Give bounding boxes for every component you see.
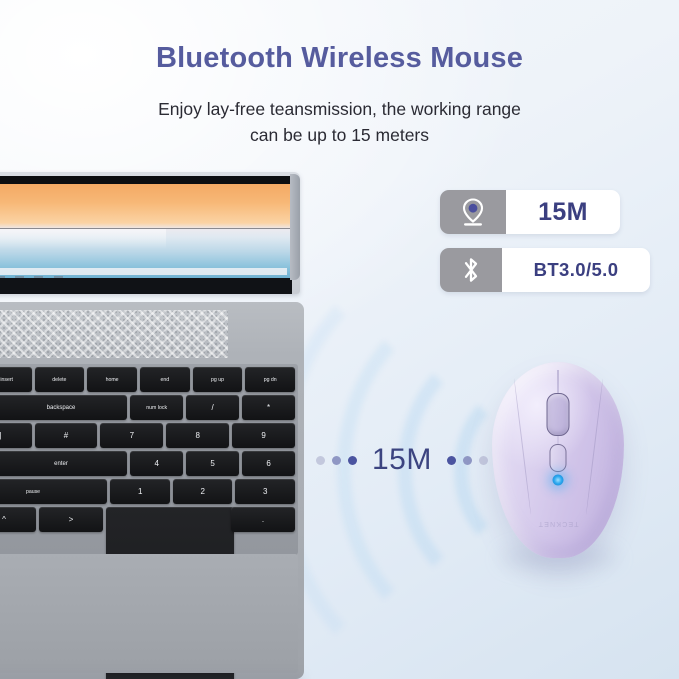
laptop-bezel-chin: hp	[0, 278, 292, 294]
product-marketing-banner: Bluetooth Wireless Mouse Enjoy lay-free …	[0, 0, 679, 679]
key-numpad-8[interactable]: 8	[166, 423, 229, 448]
key-pgdn[interactable]: pg dn	[245, 367, 295, 392]
key-numpad-3[interactable]: 3	[235, 479, 295, 504]
wallpaper-horizon-line	[0, 228, 292, 229]
key-bracket-right[interactable]: ]	[0, 423, 32, 448]
subtitle-line-2: can be up to 15 meters	[0, 122, 679, 148]
key-numlock[interactable]: num lock	[130, 395, 183, 420]
key-insert[interactable]: insert	[0, 367, 32, 392]
key-numpad-4[interactable]: 4	[130, 451, 183, 476]
laptop-keyboard: f9 f10 f11 prt sc insert delete home end…	[0, 364, 298, 555]
key-numpad-multiply[interactable]: *	[242, 395, 295, 420]
key-numpad-6[interactable]: 6	[242, 451, 295, 476]
screen-taskbar	[0, 268, 287, 275]
key-delete[interactable]: delete	[35, 367, 85, 392]
laptop-palm-rest	[0, 554, 298, 673]
key-pgup[interactable]: pg up	[193, 367, 243, 392]
key-numpad-divide[interactable]: /	[186, 395, 239, 420]
keyboard-row-function: f9 f10 f11 prt sc insert delete home end…	[0, 367, 295, 392]
laptop-screen	[0, 176, 292, 278]
laptop-lid-edge	[290, 174, 300, 280]
distance-dot-left-1	[348, 456, 357, 465]
key-numpad-7[interactable]: 7	[100, 423, 163, 448]
badge-range-label: 15M	[506, 190, 620, 234]
key-arrow-right[interactable]: >	[39, 507, 103, 532]
keyboard-row-qwerty: O P [ ] # 7 8 9	[0, 423, 295, 448]
subtitle-line-1: Enjoy lay-free teansmission, the working…	[0, 96, 679, 122]
location-pin-icon	[440, 190, 506, 234]
key-numpad-decimal[interactable]: .	[231, 507, 295, 532]
keyboard-row-shift: , . / pause 1 2 3	[0, 479, 295, 504]
dpi-button	[550, 444, 567, 472]
distance-dot-left-2	[332, 456, 341, 465]
key-hash[interactable]: #	[35, 423, 98, 448]
distance-dot-right-3	[479, 456, 488, 465]
laptop-base: f9 f10 f11 prt sc insert delete home end…	[0, 302, 304, 679]
page-subtitle: Enjoy lay-free teansmission, the working…	[0, 96, 679, 148]
key-pause[interactable]: pause	[0, 479, 107, 504]
status-led	[553, 474, 564, 485]
key-backspace[interactable]: backspace	[0, 395, 127, 420]
speaker-grille	[0, 310, 228, 358]
keyboard-row-number: 9 0 - = backspace num lock / *	[0, 395, 295, 420]
key-numpad-2[interactable]: 2	[173, 479, 233, 504]
key-numpad-9[interactable]: 9	[232, 423, 295, 448]
scroll-wheel	[547, 393, 570, 436]
distance-label: 15M	[372, 443, 432, 477]
page-title: Bluetooth Wireless Mouse	[0, 42, 679, 75]
mouse-brand-text: TECKNET	[537, 520, 578, 527]
distance-dot-left-3	[316, 456, 325, 465]
distance-indicator: 15M	[316, 443, 488, 477]
laptop: hp f9 f10 f11 prt sc insert delete home …	[0, 172, 304, 679]
key-enter[interactable]: enter	[0, 451, 127, 476]
key-numpad-5[interactable]: 5	[186, 451, 239, 476]
laptop-lid: hp	[0, 172, 300, 294]
laptop-base-shadow	[0, 675, 304, 679]
key-home[interactable]: home	[87, 367, 137, 392]
keyboard-row-space: alt gr \ < ^ > 0 .	[0, 507, 295, 532]
key-end[interactable]: end	[140, 367, 190, 392]
key-numpad-1[interactable]: 1	[110, 479, 170, 504]
key-arrow-up[interactable]: ^	[0, 507, 36, 532]
distance-dot-right-2	[463, 456, 472, 465]
webcam-bezel-strip	[0, 176, 292, 184]
badge-range: 15M	[440, 190, 620, 234]
screen-wallpaper	[0, 176, 292, 278]
keyboard-row-home: K L ; ' enter 4 5 6	[0, 451, 295, 476]
distance-dot-right-1	[447, 456, 456, 465]
wireless-mouse: TECKNET	[492, 362, 624, 558]
wallpaper-reflection	[0, 229, 166, 249]
